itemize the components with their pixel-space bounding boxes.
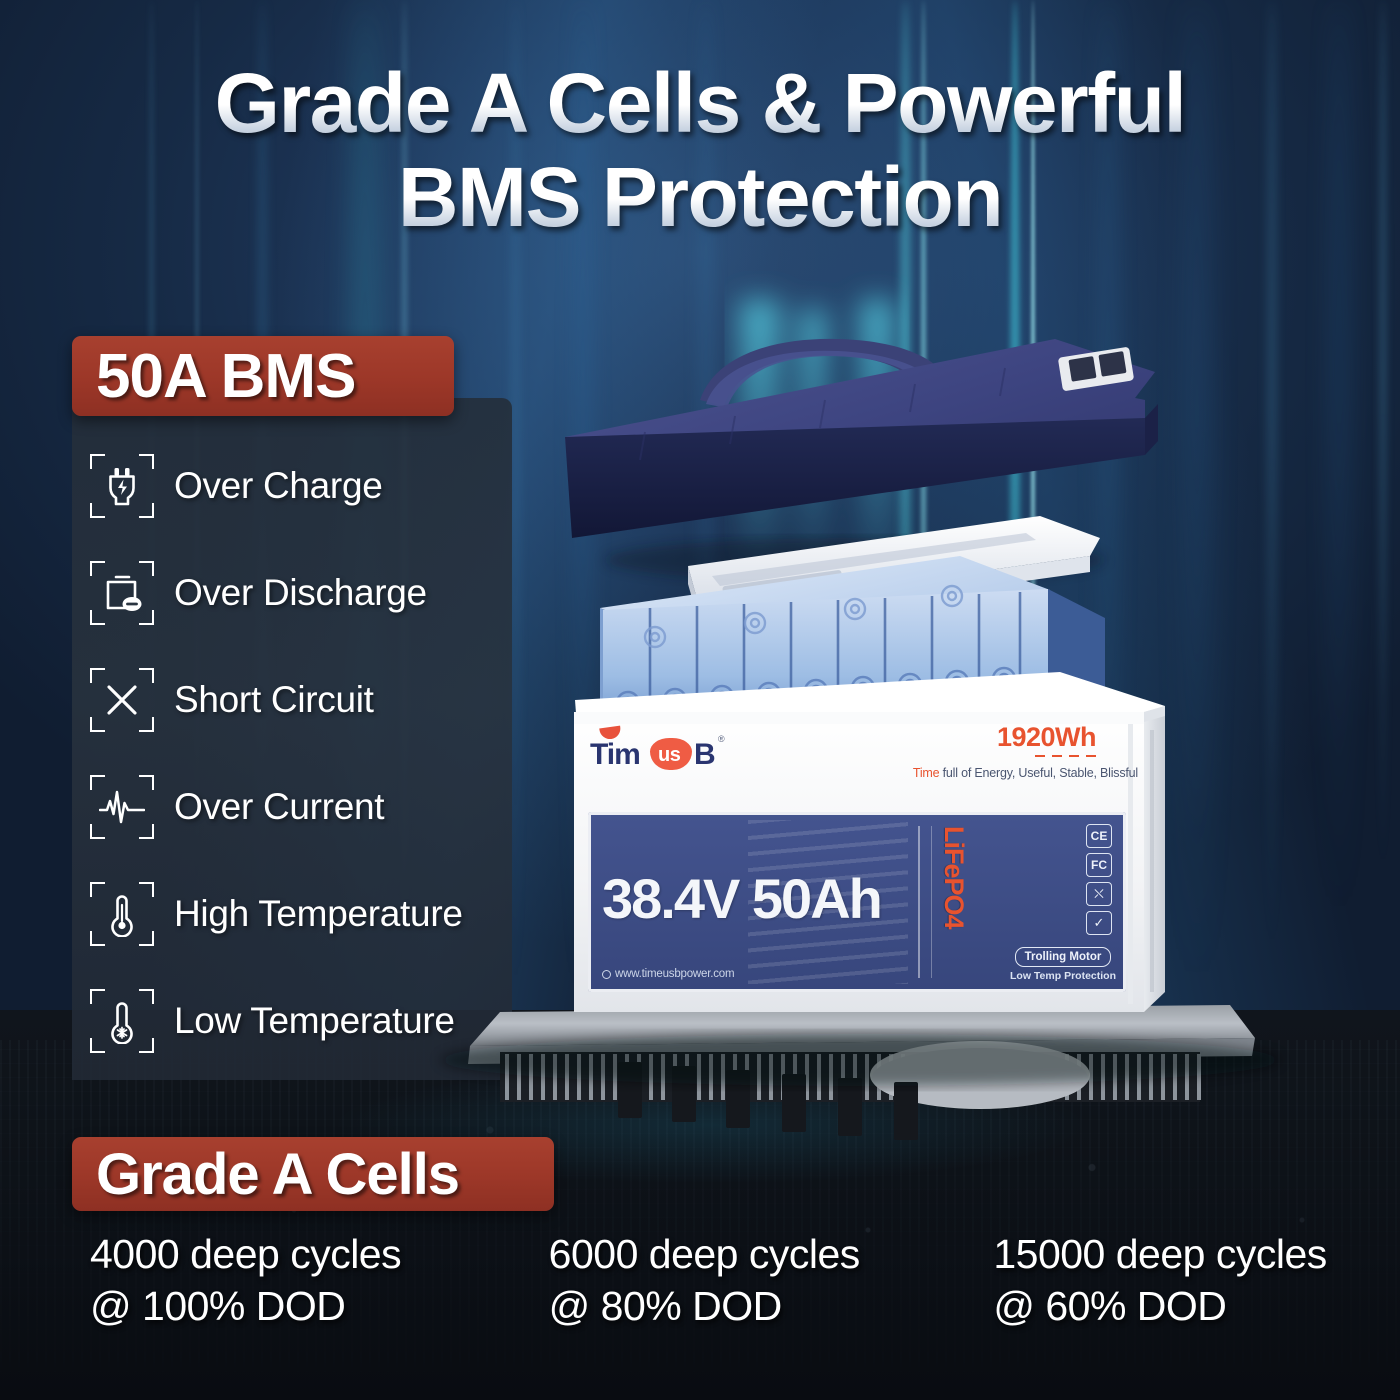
cycle-count: 4000 deep cycles [90,1228,489,1280]
grade-a-cells-badge: Grade A Cells [72,1137,554,1211]
waveform-icon [90,775,154,839]
protection-item-over-discharge: Over Discharge [72,539,542,646]
protection-item-label: Over Current [174,786,384,828]
protection-item-label: High Temperature [174,893,463,935]
protection-item-over-charge: Over Charge [72,432,542,539]
protection-item-low-temperature: Low Temperature [72,967,542,1074]
bms-badge-label: 50A BMS [96,341,355,412]
protection-item-over-current: Over Current [72,753,542,860]
light-streak [1100,0,1116,1020]
protection-feature-list: Over ChargeOver DischargeShort CircuitOv… [72,432,542,1074]
protection-item-label: Over Discharge [174,572,427,614]
light-streak [1185,0,1209,1000]
plug-bolt-icon [90,454,154,518]
light-streak [575,0,591,1020]
protection-item-label: Over Charge [174,465,383,507]
light-streak [900,0,911,1040]
light-streak [1268,0,1276,960]
protection-item-high-temperature: High Temperature [72,860,542,967]
cycle-spec-1: 4000 deep cycles@ 100% DOD [0,1228,497,1333]
light-streak [1031,0,1035,1060]
cycle-dod: @ 100% DOD [90,1280,489,1332]
battery-minus-icon [90,561,154,625]
cycle-life-row: 4000 deep cycles@ 100% DOD6000 deep cycl… [0,1228,1400,1333]
light-streak [921,0,926,1060]
light-streak [700,0,712,1000]
infographic-canvas: Tim us B ® 1920Wh Time full of Energy, U… [0,0,1400,1400]
protection-item-label: Short Circuit [174,679,374,721]
light-streak [1380,0,1386,880]
protection-item-label: Low Temperature [174,1000,455,1042]
bms-badge: 50A BMS [72,336,454,416]
cycle-spec-2: 6000 deep cycles@ 80% DOD [497,1228,956,1333]
cycle-count: 15000 deep cycles [993,1228,1392,1280]
cycle-dod: @ 60% DOD [993,1280,1392,1332]
x-cross-icon [90,668,154,732]
protection-item-short-circuit: Short Circuit [72,646,542,753]
cycle-count: 6000 deep cycles [549,1228,948,1280]
light-streak [1010,0,1020,1060]
grade-a-cells-badge-label: Grade A Cells [96,1141,459,1208]
cycle-spec-3: 15000 deep cycles@ 60% DOD [955,1228,1400,1333]
cycle-dod: @ 80% DOD [549,1280,948,1332]
light-streak [1330,0,1348,930]
thermometer-snowflake-icon [90,989,154,1053]
thermometer-hot-icon [90,882,154,946]
